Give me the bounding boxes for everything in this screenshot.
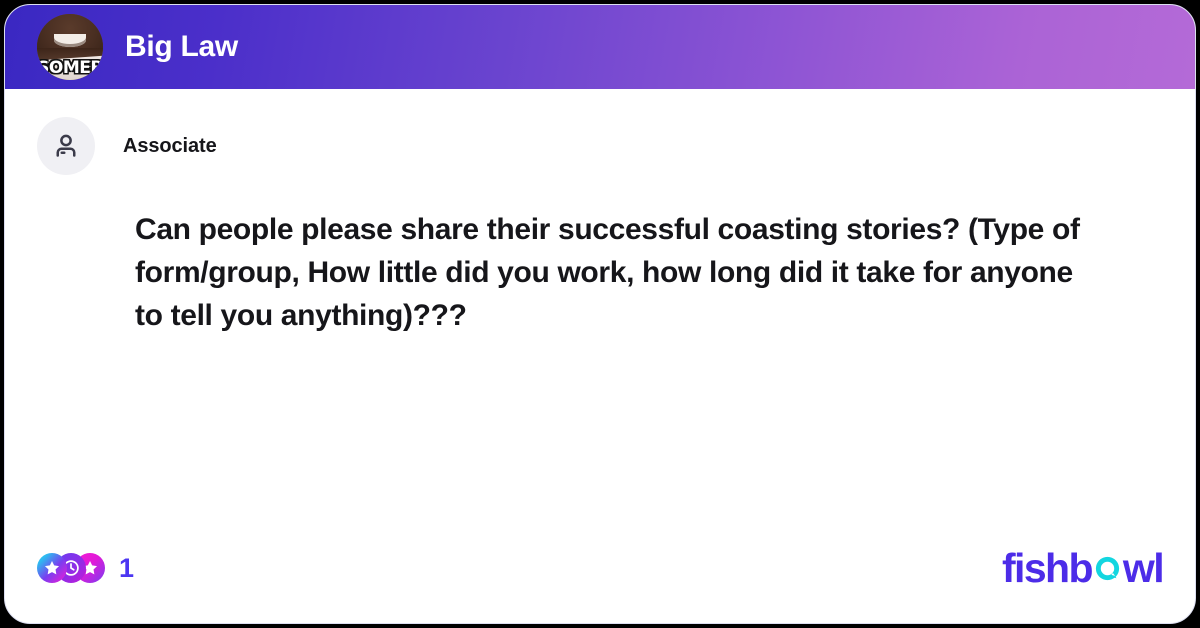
post-body: Associate Can people please share their … <box>5 89 1195 623</box>
bowl-header: SOMEB Big Law <box>5 5 1195 89</box>
fishbowl-post-card: SOMEB Big Law Associate Can people pleas… <box>4 4 1196 624</box>
post-author-name: Associate <box>123 135 217 158</box>
reaction-badges[interactable] <box>37 553 105 583</box>
star-reaction-icon[interactable] <box>37 553 67 583</box>
post-author-row: Associate <box>37 117 1163 175</box>
fishbowl-logo: fishb wl <box>1002 548 1163 589</box>
fishbowl-logo-text-after: wl <box>1123 548 1163 589</box>
post-text: Can people please share their successful… <box>135 208 1103 337</box>
bowl-title: Big Law <box>125 30 238 64</box>
reaction-count: 1 <box>119 553 134 584</box>
avatar <box>37 117 95 175</box>
post-footer: 1 fishb wl <box>37 545 1163 591</box>
fishbowl-logo-text-before: fishb <box>1002 548 1092 589</box>
bowl-avatar[interactable]: SOMEB <box>37 14 103 80</box>
person-icon <box>51 131 81 161</box>
reactions-group[interactable]: 1 <box>37 553 134 584</box>
bowl-avatar-caption: SOMEB <box>37 58 103 78</box>
bowl-avatar-image-detail <box>54 34 86 47</box>
speech-bubble-o-icon <box>1093 554 1122 583</box>
